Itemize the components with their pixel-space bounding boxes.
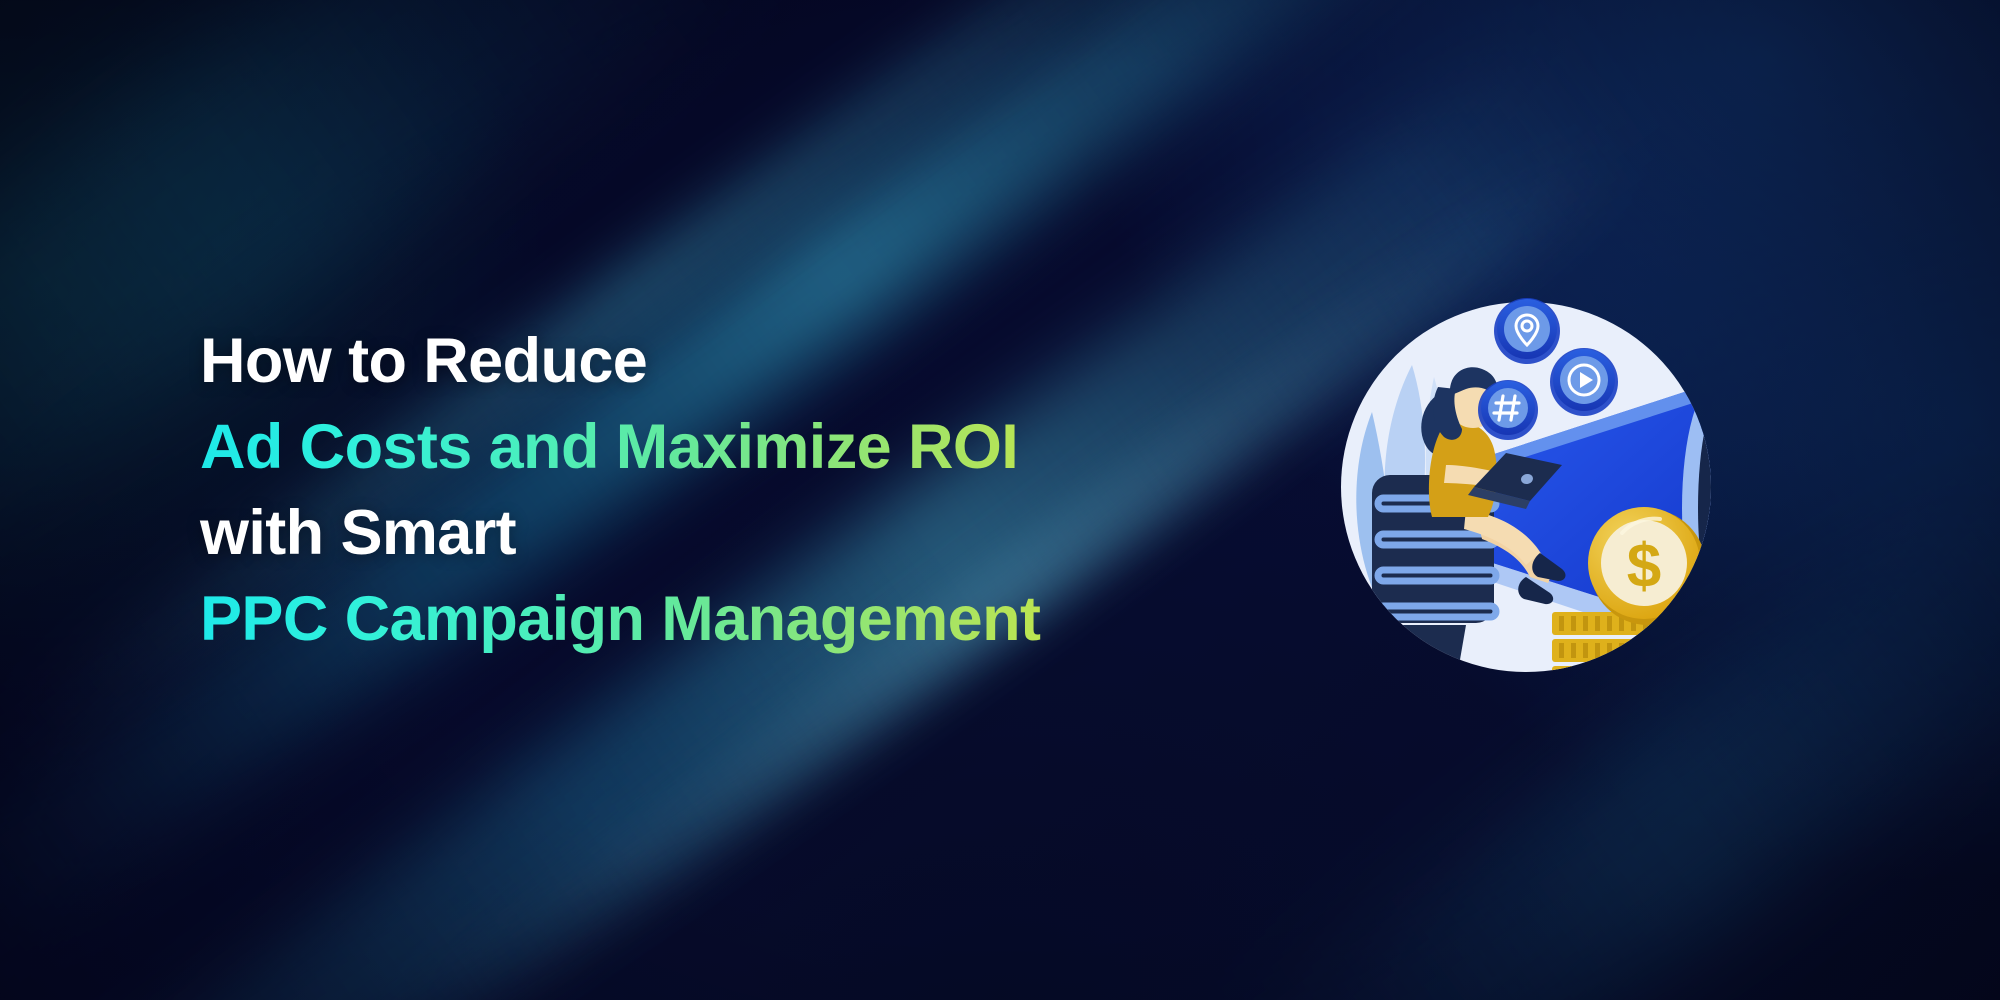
hashtag-icon	[1478, 380, 1538, 440]
play-button-icon	[1550, 348, 1618, 416]
ppc-megaphone-illustration: $	[1316, 277, 1736, 697]
headline-line-1: How to Reduce	[200, 318, 1260, 404]
page-title: How to Reduce Ad Costs and Maximize ROI …	[200, 318, 1260, 662]
coin-stack	[1552, 612, 1704, 697]
headline-line-2: Ad Costs and Maximize ROI	[200, 404, 1260, 490]
coin-dollar-symbol: $	[1627, 532, 1661, 601]
megaphone-mouth-inner	[1698, 392, 1736, 624]
headline-line-3: with Smart	[200, 490, 1260, 576]
hero-banner: How to Reduce Ad Costs and Maximize ROI …	[0, 0, 2000, 1000]
location-pin-icon	[1494, 298, 1560, 364]
headline-line-4: PPC Campaign Management	[200, 576, 1260, 662]
